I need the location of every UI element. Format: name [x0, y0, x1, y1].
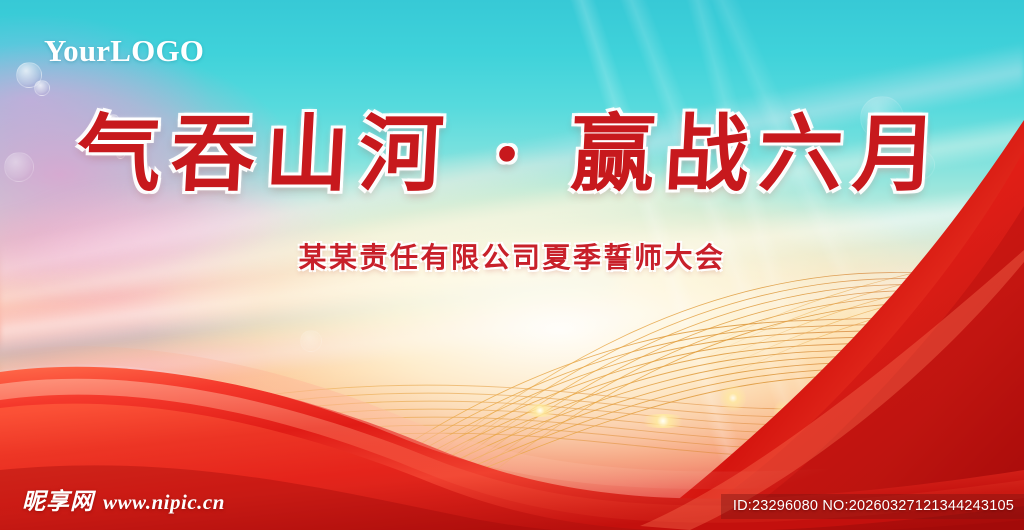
- watermark-site-url: www.nipic.cn: [103, 490, 225, 515]
- watermark-id-label: ID:23296080 NO:20260327121344243105: [721, 494, 1024, 519]
- watermark-brand: 昵享网 www.nipic.cn: [22, 482, 225, 516]
- watermark-site-name: 昵享网: [22, 482, 94, 516]
- page-subtitle: 某某责任有限公司夏季誓师大会: [0, 236, 1024, 276]
- logo-text: YourLOGO: [44, 33, 204, 69]
- poster-canvas: YourLOGO 气吞山河 · 赢战六月 某某责任有限公司夏季誓师大会 昵享网 …: [0, 0, 1024, 530]
- page-title: 气吞山河 · 赢战六月: [0, 112, 1024, 196]
